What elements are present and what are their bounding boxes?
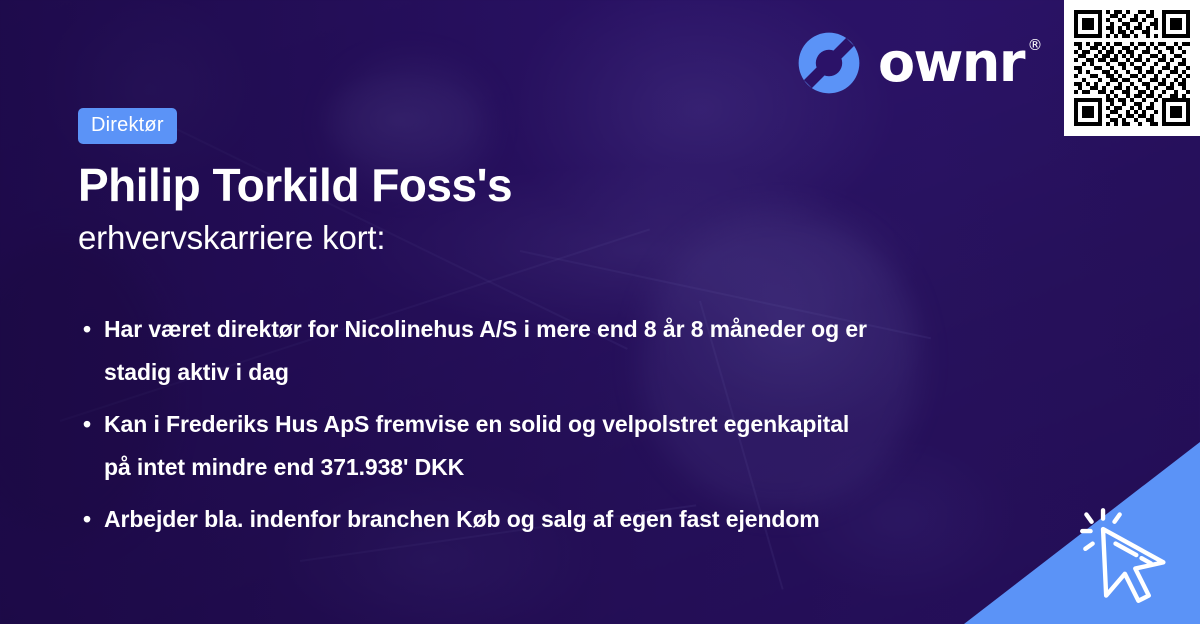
- list-item: Arbejder bla. indenfor branchen Køb og s…: [78, 498, 868, 541]
- list-item: Har været direktør for Nicolinehus A/S i…: [78, 308, 868, 393]
- ownr-swirl-circle-icon: [796, 30, 862, 96]
- brand-logo[interactable]: ownr®: [796, 30, 1024, 96]
- role-badge: Direktør: [78, 108, 177, 144]
- registered-trademark-icon: ®: [1028, 38, 1042, 53]
- page-subtitle: erhvervskarriere kort:: [78, 219, 878, 257]
- brand-wordmark: ownr®: [878, 36, 1024, 90]
- ownr-career-card: ownr® Direktør Philip Torkild Foss's erh…: [0, 0, 1200, 624]
- list-item: Kan i Frederiks Hus ApS fremvise en soli…: [78, 403, 868, 488]
- click-cursor-icon: [1074, 502, 1182, 606]
- qr-code-panel[interactable]: [1064, 0, 1200, 136]
- brand-name-text: ownr: [878, 31, 1024, 94]
- headline-block: Direktør Philip Torkild Foss's erhvervsk…: [78, 108, 878, 257]
- career-highlights-list: Har været direktør for Nicolinehus A/S i…: [78, 308, 868, 551]
- qr-code-icon[interactable]: [1074, 10, 1190, 126]
- page-title: Philip Torkild Foss's: [78, 161, 878, 210]
